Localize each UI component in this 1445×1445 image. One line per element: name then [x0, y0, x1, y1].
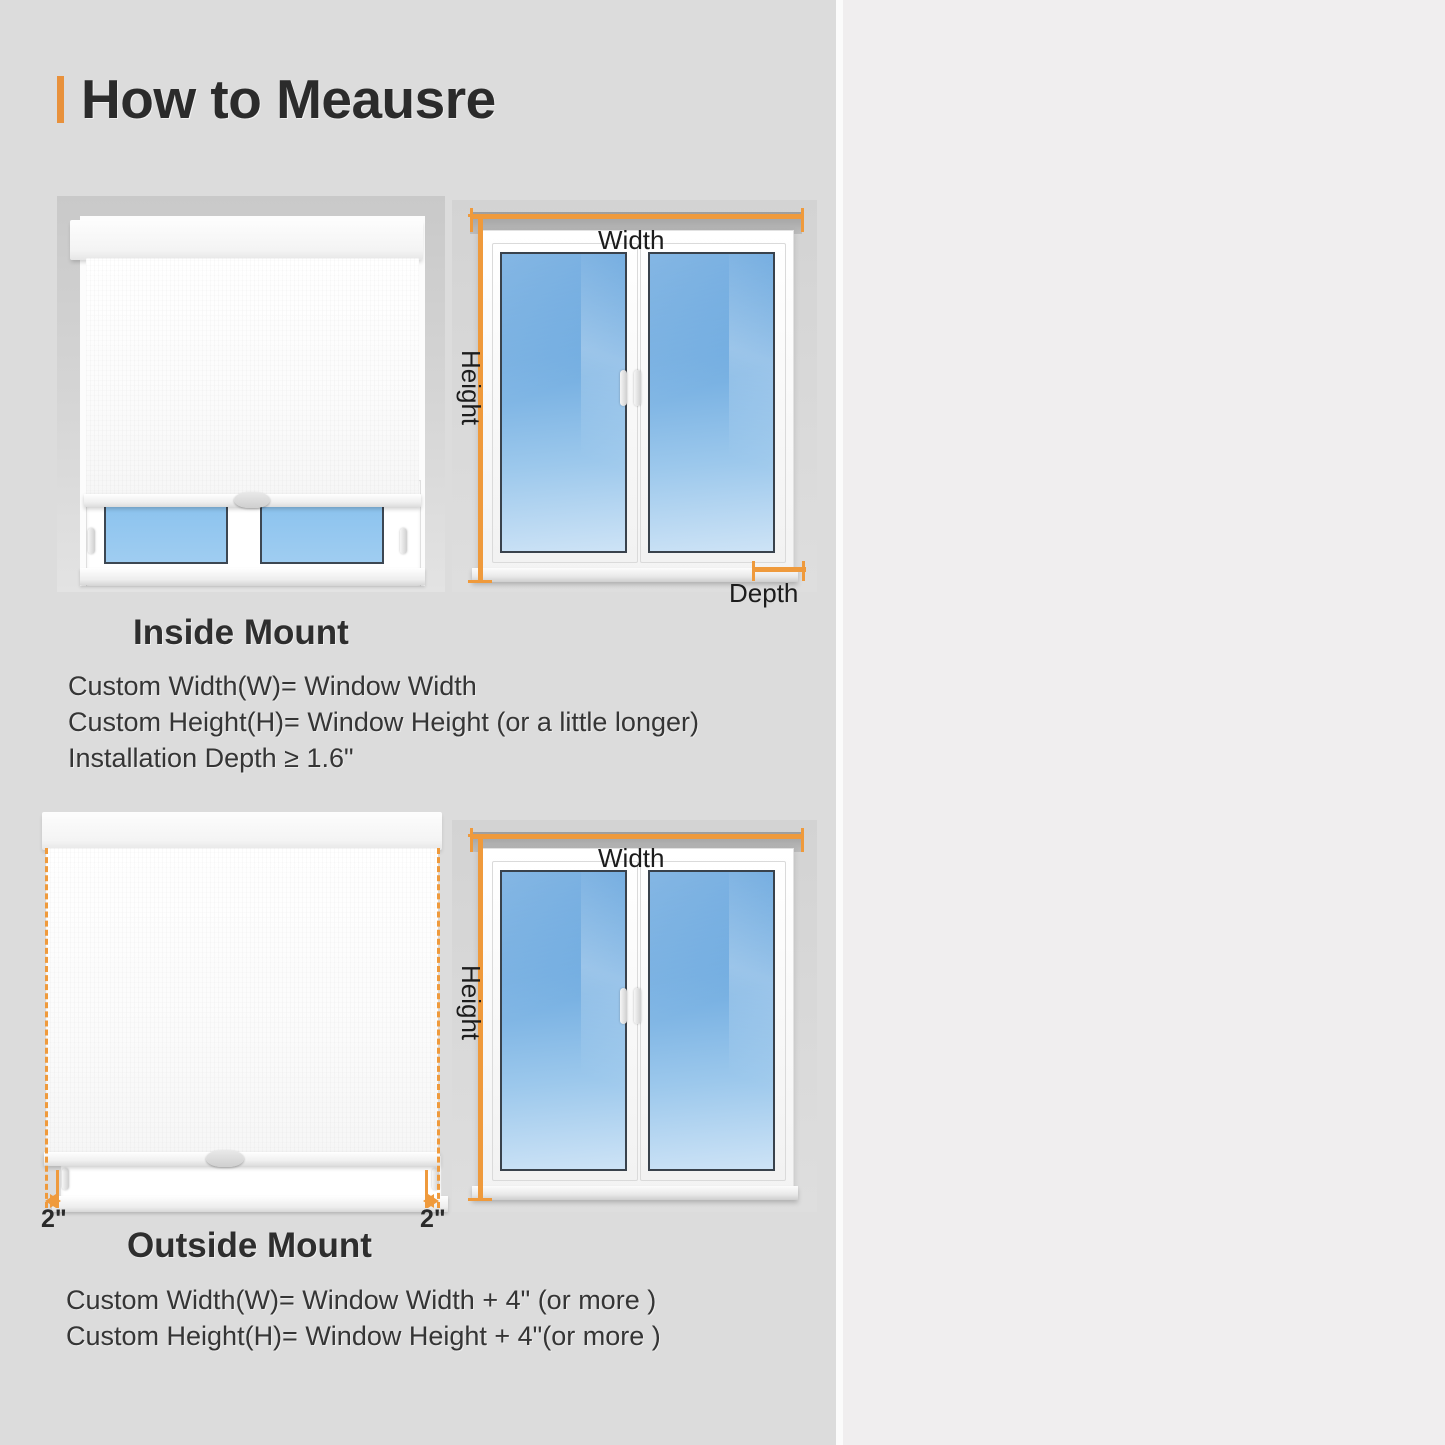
outside-spec-1: Custom Width(W)= Window Width + 4" (or m…: [66, 1285, 656, 1316]
outside-overhang-right-label: 2": [420, 1205, 446, 1234]
outside-width-label: Width: [598, 843, 664, 874]
package-contents-panel: What's in the package: [843, 0, 1445, 1445]
inside-spec-3: Installation Depth ≥ 1.6": [68, 743, 354, 774]
inside-spec-1: Custom Width(W)= Window Width: [68, 671, 477, 702]
infographic-page: How to Meausre: [0, 0, 1445, 1445]
page-title-left: How to Meausre: [81, 72, 496, 127]
how-to-measure-panel: How to Meausre: [0, 0, 836, 1445]
panel-divider: [836, 0, 843, 1445]
outside-spec-2: Custom Height(H)= Window Height + 4"(or …: [66, 1321, 661, 1352]
outside-height-label: Height: [455, 965, 486, 1040]
inside-height-label: Height: [455, 350, 486, 425]
outside-overhang-left-label: 2": [41, 1205, 67, 1234]
inside-spec-2: Custom Height(H)= Window Height (or a li…: [68, 707, 699, 738]
outside-mount-title: Outside Mount: [127, 1226, 372, 1266]
inside-width-label: Width: [598, 225, 664, 256]
accent-bar-left: [57, 76, 64, 123]
inside-mount-title: Inside Mount: [133, 613, 349, 653]
inside-depth-label: Depth: [729, 578, 798, 609]
how-to-measure-heading: How to Meausre: [57, 72, 496, 127]
